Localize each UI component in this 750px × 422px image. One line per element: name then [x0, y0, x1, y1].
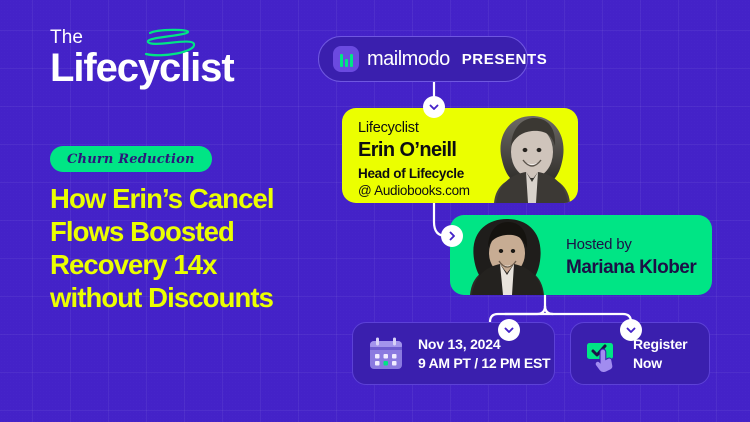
mailmodo-presents-pill: mailmodo PRESENTS	[318, 36, 528, 82]
speaker-card: Lifecyclist Erin O’neill Head of Lifecyc…	[342, 108, 578, 203]
speaker-name: Erin O’neill	[358, 138, 470, 163]
register-text: Register Now	[633, 335, 687, 371]
headline-line-1: How Erin’s Cancel	[50, 182, 335, 215]
register-line-1: Register	[633, 335, 687, 353]
calendar-icon	[367, 335, 405, 373]
host-card: Hosted by Mariana Klober	[450, 215, 712, 295]
host-details: Hosted by Mariana Klober	[566, 235, 696, 280]
headline-line-3: Recovery 14x	[50, 248, 335, 281]
click-check-icon	[584, 335, 622, 373]
host-label: Hosted by	[566, 235, 696, 255]
event-date-card: Nov 13, 2024 9 AM PT / 12 PM EST	[352, 322, 555, 385]
chevron-down-icon-presents	[423, 96, 445, 118]
mariana-klober-photo	[464, 215, 550, 295]
chevron-right-icon-speaker	[441, 225, 463, 247]
erin-oneill-photo	[486, 108, 578, 203]
speaker-eyebrow: Lifecyclist	[358, 119, 470, 137]
chevron-down-icon-date	[498, 319, 520, 341]
host-name: Mariana Klober	[566, 256, 696, 281]
green-squiggle-icon	[136, 24, 204, 64]
category-badge-label: Churn Reduction	[67, 152, 195, 167]
presents-label: PRESENTS	[462, 51, 548, 68]
webinar-promo-banner: The Lifecyclist Churn Reduction How Erin…	[0, 0, 750, 422]
mailmodo-wordmark: mailmodo	[367, 48, 450, 71]
speaker-organization: @ Audiobooks.com	[358, 182, 470, 199]
mailmodo-logo-icon	[333, 46, 359, 72]
event-date: Nov 13, 2024	[418, 335, 550, 354]
chevron-down-icon-register	[620, 319, 642, 341]
headline-line-2: Flows Boosted	[50, 215, 335, 248]
headline-line-4: without Discounts	[50, 281, 335, 314]
event-time: 9 AM PT / 12 PM EST	[418, 354, 550, 373]
lifecyclist-brand: The Lifecyclist	[50, 28, 310, 88]
category-badge: Churn Reduction	[50, 146, 212, 172]
speaker-details: Lifecyclist Erin O’neill Head of Lifecyc…	[358, 119, 470, 200]
register-line-2: Now	[633, 354, 687, 372]
page-title: How Erin’s Cancel Flows Boosted Recovery…	[50, 182, 335, 314]
event-date-text: Nov 13, 2024 9 AM PT / 12 PM EST	[418, 335, 550, 373]
speaker-title: Head of Lifecycle	[358, 165, 470, 182]
